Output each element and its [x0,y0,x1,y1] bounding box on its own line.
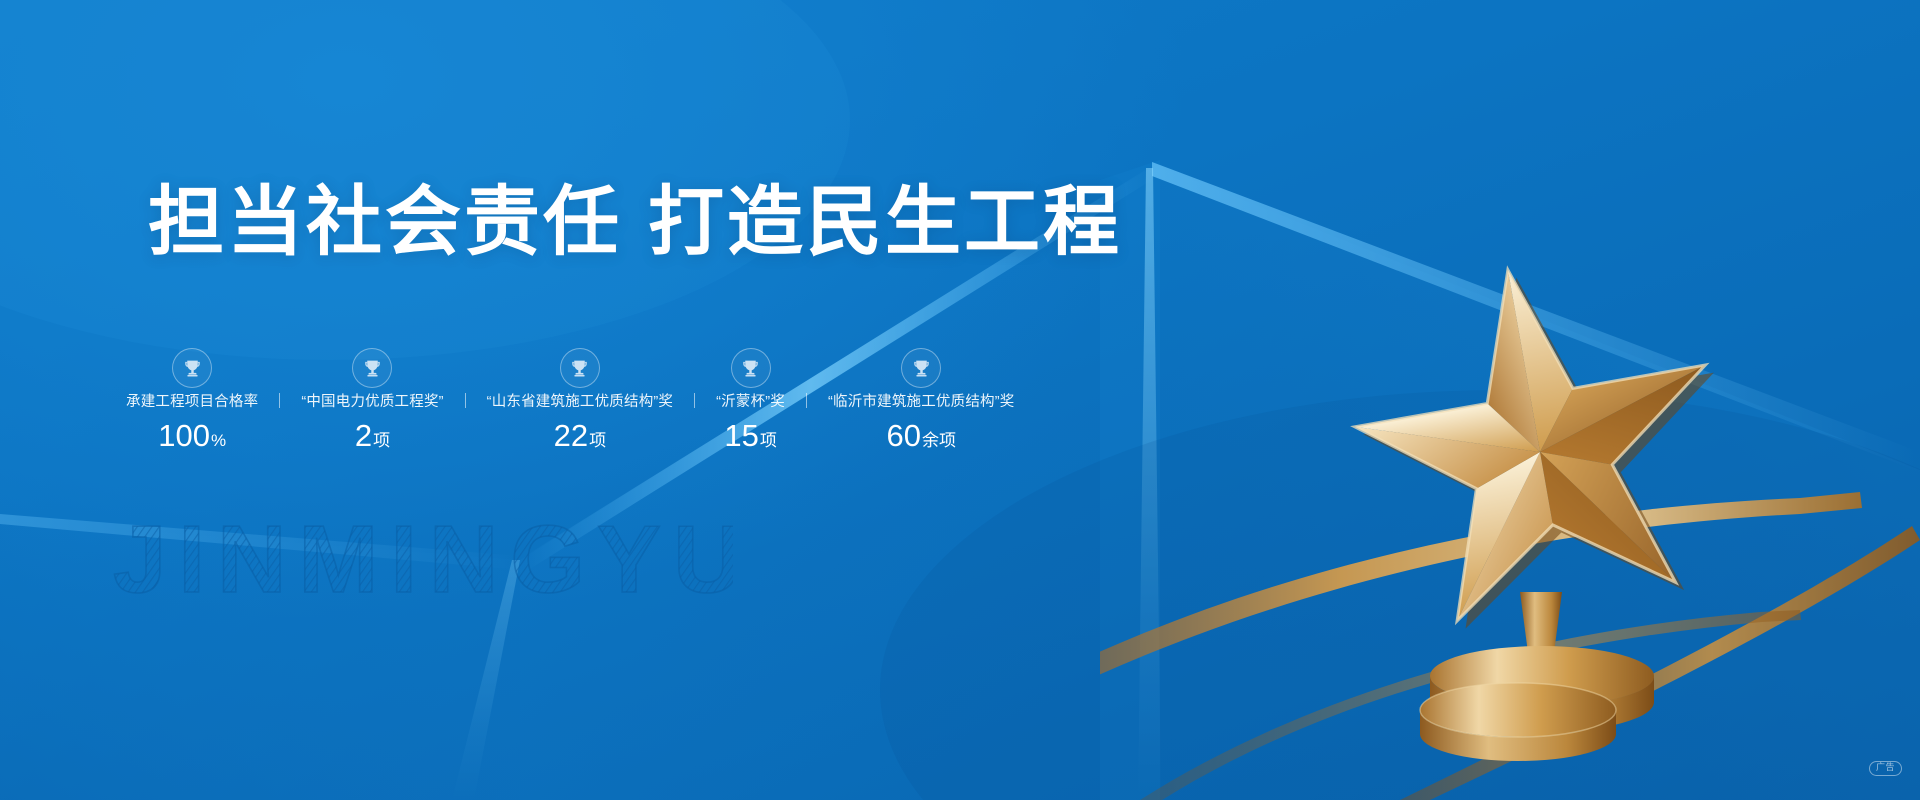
stat-item: “山东省建筑施工优质结构”奖 22项 [479,348,681,451]
headline-part-2: 打造民生工程 [648,180,1122,265]
stat-item: “临沂市建筑施工优质结构”奖 60余项 [820,348,1022,451]
trophy-icon [731,348,771,388]
stat-divider [806,393,807,408]
stat-divider [694,393,695,408]
stat-number: 2 [355,418,372,453]
page-title: 担当社会责任打造民生工程 [148,180,1122,265]
stat-label: “临沂市建筑施工优质结构”奖 [828,395,1014,410]
ad-badge: 广告 [1869,761,1902,776]
stat-item: 承建工程项目合格率 100% [118,348,266,451]
stat-number: 60 [886,418,920,453]
stat-divider [279,393,280,408]
banner-content: 担当社会责任打造民生工程 承建工程项目合格率 100% [148,0,1148,800]
stat-item: “沂蒙杯”奖 15项 [708,348,793,451]
svg-text:JINMINGYU: JINMINGYU [113,508,733,613]
stat-divider [465,393,466,408]
stat-value: 2项 [355,420,390,451]
stat-item: “中国电力优质工程奖” 2项 [293,348,451,451]
stat-unit: 项 [760,431,777,450]
brand-watermark: JINMINGYU [113,508,733,618]
stat-unit: 余项 [922,431,956,450]
stat-value: 60余项 [886,420,955,451]
stat-value: 100% [158,420,226,451]
stat-number: 100 [158,418,210,453]
trophy-icon [901,348,941,388]
promo-banner: 担当社会责任打造民生工程 承建工程项目合格率 100% [0,0,1920,800]
stat-unit: 项 [373,431,390,450]
stat-unit: 项 [589,431,606,450]
stat-label: “沂蒙杯”奖 [716,395,785,410]
stat-label: “中国电力优质工程奖” [301,395,443,410]
stat-value: 22项 [554,420,606,451]
stat-number: 15 [724,418,758,453]
stat-unit: % [211,431,226,450]
stat-label: “山东省建筑施工优质结构”奖 [487,395,673,410]
stat-number: 22 [554,418,588,453]
gold-star-trophy-graphic [1100,240,1920,800]
trophy-icon [560,348,600,388]
achievement-stats-row: 承建工程项目合格率 100% “中国电力优质工程奖” 2项 [118,348,1022,451]
headline-part-1: 担当社会责任 [148,180,622,265]
stat-value: 15项 [724,420,776,451]
trophy-icon [172,348,212,388]
stat-label: 承建工程项目合格率 [126,395,258,410]
trophy-icon [352,348,392,388]
